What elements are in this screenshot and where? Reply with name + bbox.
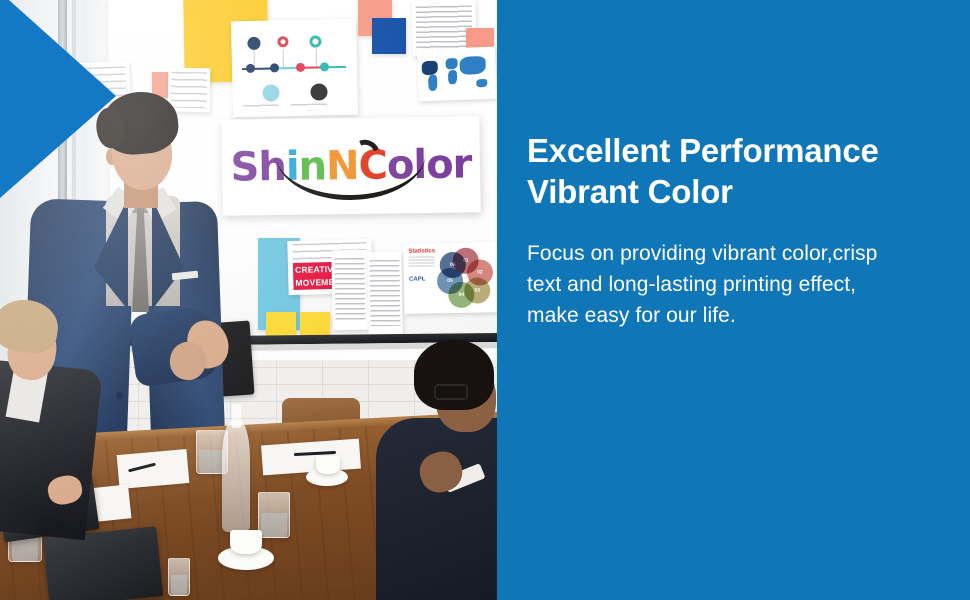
timeline-marker-3: [296, 63, 305, 72]
headline: Excellent Performance Vibrant Color: [527, 130, 952, 212]
water-bottle: [222, 420, 250, 532]
map-region-oceania: [476, 79, 487, 87]
statistics-title: Statistics: [408, 248, 435, 254]
water-glass-4: [168, 558, 190, 596]
report-lines-2: [370, 260, 400, 326]
statistics-card: Statistics CAPL 01 02 03 04 05 06: [403, 242, 497, 314]
timeline-caption-1: [243, 104, 279, 112]
timeline-dot-2: [277, 36, 288, 47]
report-paper-2: [367, 252, 402, 335]
timeline-dot-1: [247, 37, 260, 50]
report-lines-1: [334, 258, 366, 323]
statistics-tag: CAPL: [409, 276, 425, 282]
blue-square-note: [372, 18, 406, 54]
presenter-jacket-button: [116, 392, 123, 399]
water-glass-2: [258, 492, 290, 538]
body-line-3: make easy for our life.: [527, 304, 736, 327]
statistics-subtext: [409, 256, 435, 266]
attendee-right-glasses-icon: [434, 384, 468, 400]
timeline-stem-2: [283, 49, 284, 67]
timeline-caption-2: [291, 103, 327, 111]
body-line-1: Focus on providing vibrant color,crisp: [527, 242, 877, 265]
logo-letter-r: r: [452, 144, 471, 184]
timeline-dot-4: [262, 84, 279, 101]
timeline-marker-2: [270, 63, 279, 72]
timeline-dot-3: [309, 35, 321, 47]
shincolor-logo-plaque: ShinNColor: [221, 116, 480, 216]
timeline-infographic-card: [231, 19, 358, 118]
headline-line-2: Vibrant Color: [527, 173, 733, 210]
copy-block: Excellent Performance Vibrant Color Focu…: [527, 130, 952, 331]
attendee-left: [0, 300, 114, 530]
map-region-asia: [459, 56, 486, 75]
world-map-card: [417, 47, 497, 102]
copy-panel: Excellent Performance Vibrant Color Focu…: [497, 0, 970, 600]
map-region-europe: [445, 58, 457, 69]
attendee-right: [358, 340, 497, 600]
map-region-south-america: [428, 75, 438, 91]
document-lines: [416, 5, 472, 51]
venn-diagram: 01 02 03 04 05 06: [435, 247, 496, 308]
logo-letter-o2: o: [426, 145, 453, 185]
coffee-cup-1: [316, 456, 340, 474]
logo-letter-s: S: [230, 147, 258, 187]
headline-line-1: Excellent Performance: [527, 132, 879, 169]
timeline-dot-5: [310, 83, 327, 100]
map-region-americas: [422, 61, 438, 76]
marketing-banner: ShinNColor CREATIVE MOVEMENT Statistics: [0, 0, 970, 600]
body-copy: Focus on providing vibrant color,crisp t…: [527, 238, 952, 331]
timeline-stem-3: [316, 49, 317, 67]
timeline-marker-1: [246, 64, 255, 73]
venn-petal-6: 06: [440, 252, 466, 278]
meeting-photo: ShinNColor CREATIVE MOVEMENT Statistics: [0, 0, 497, 600]
body-line-2: text and long-lasting printing effect,: [527, 273, 856, 296]
timeline-marker-4: [320, 62, 329, 71]
coffee-cup-2: [230, 530, 262, 554]
attendee-right-body: [376, 418, 497, 600]
report-paper-1: [331, 250, 368, 331]
map-region-africa: [448, 70, 457, 84]
